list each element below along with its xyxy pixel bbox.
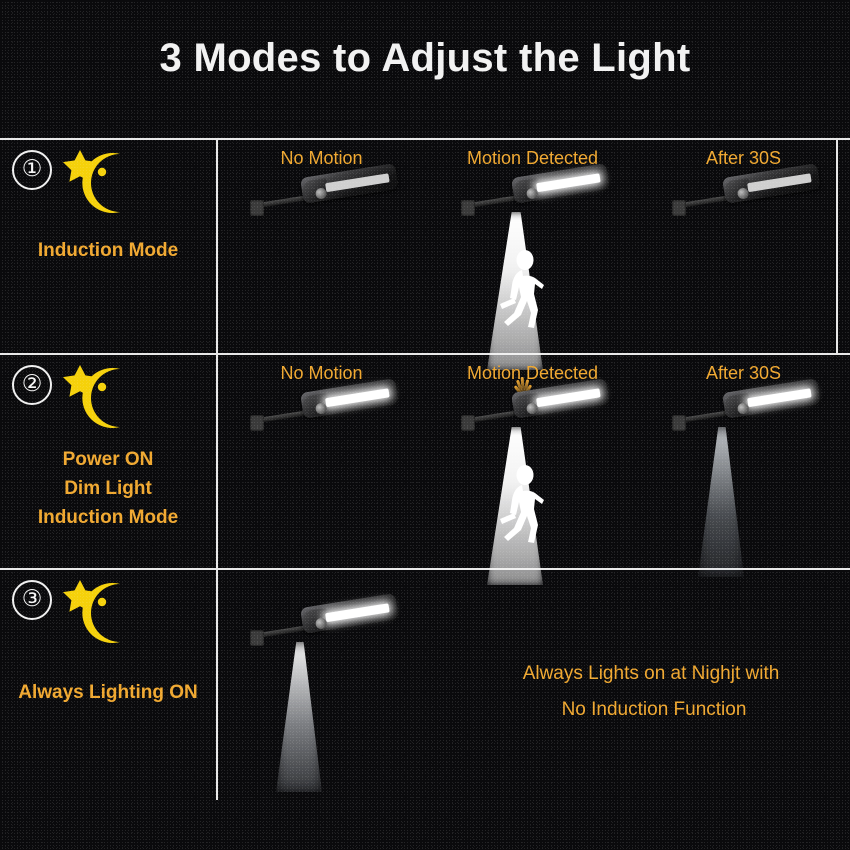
solar-lamp-fixture [674,391,824,439]
demo-cell: Motion Detected [427,138,638,353]
mode-number-badge: ③ [12,580,52,620]
mode-line: Induction Mode [0,236,216,265]
mode-description: Induction Mode [0,236,216,265]
modes-table: ① Induction Mode No Motion [0,138,850,800]
table-row: ③ Always Lighting ON [0,568,850,800]
running-person-icon [489,463,551,549]
mode-description: Power ON Dim Light Induction Mode [0,445,216,532]
caption-line: No Induction Function [466,692,836,728]
lamp-head [722,163,821,204]
lamp-bracket [461,415,475,431]
caption-line: Always Lights on at Nighjt with [466,656,836,692]
lamp-bracket [672,200,686,216]
crescent-moon-star-icon [58,144,148,224]
lamp-bracket [461,200,475,216]
solar-lamp-fixture [252,391,402,439]
demo-cell [216,568,427,800]
lamp-bracket [250,200,264,216]
mode-demo-cells: No Motion Motion Detected [216,353,850,568]
mode-line: Dim Light [0,474,216,503]
solar-lamp-fixture [674,176,824,224]
demo-cell: After 30S [638,138,849,353]
crescent-moon-star-icon [58,359,148,439]
mode-demo-cells: Always Lights on at Nighjt with No Induc… [216,568,850,800]
mode-line: Always Lighting ON [0,678,216,707]
solar-lamp-fixture [463,391,613,439]
solar-lamp-fixture [252,176,402,224]
mode-line: Power ON [0,445,216,474]
lamp-bracket [672,415,686,431]
mode-label-cell: ① Induction Mode [0,138,216,353]
running-person-icon [489,248,551,334]
mode-number-badge: ② [12,365,52,405]
solar-lamp-fixture [463,176,613,224]
demo-cell: No Motion [216,353,427,568]
always-on-caption: Always Lights on at Nighjt with No Induc… [466,656,836,728]
lamp-head [511,163,610,204]
mode-label-cell: ② Power ON Dim Light Induction Mode [0,353,216,568]
mode-line: Induction Mode [0,503,216,532]
table-row: ② Power ON Dim Light Induction Mode No M… [0,353,850,568]
solar-lamp-fixture [252,606,402,654]
lamp-head [722,378,821,419]
lamp-head [300,378,399,419]
lamp-bracket [250,630,264,646]
lamp-head [300,593,399,634]
mode-demo-cells: No Motion Motion Detected [216,138,850,353]
lamp-head [300,163,399,204]
mode-number-badge: ① [12,150,52,190]
demo-cell: Motion Detected [427,353,638,568]
table-row: ① Induction Mode No Motion [0,138,850,353]
page-title: 3 Modes to Adjust the Light [0,36,850,81]
mode-description: Always Lighting ON [0,678,216,707]
demo-cell: After 30S [638,353,849,568]
lamp-bracket [250,415,264,431]
mode-label-cell: ③ Always Lighting ON [0,568,216,800]
crescent-moon-star-icon [58,574,148,654]
demo-cell: No Motion [216,138,427,353]
